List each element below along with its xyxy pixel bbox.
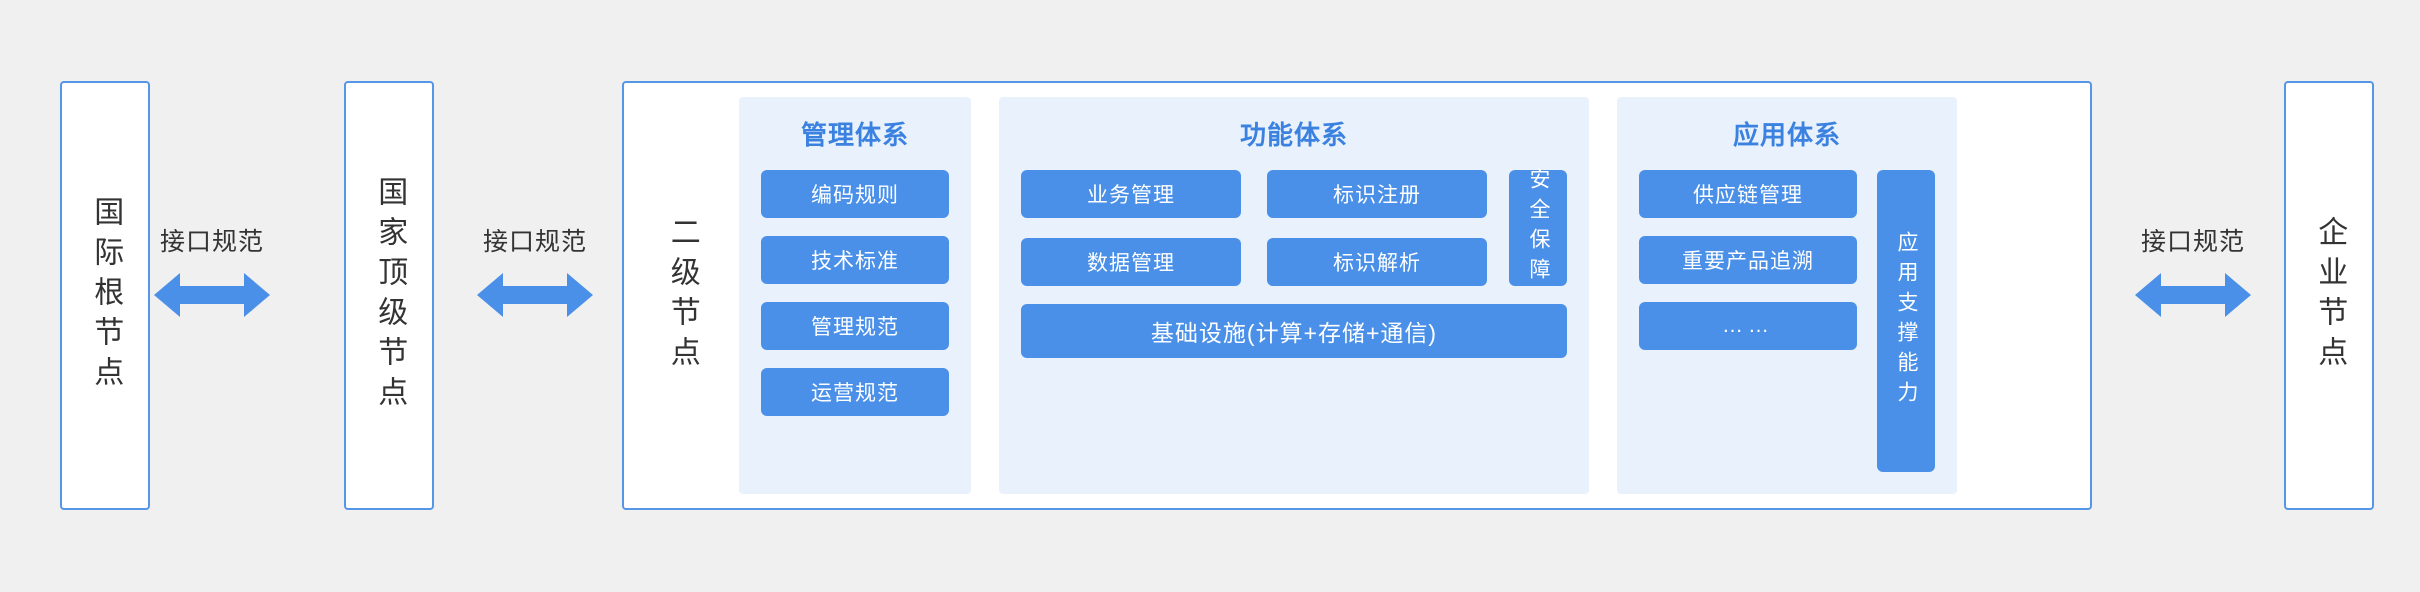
chip-management-specification[interactable]: 管理规范 [761, 302, 949, 350]
management-item-stack: 编码规则 技术标准 管理规范 运营规范 [761, 170, 949, 472]
panel-management-body: 编码规则 技术标准 管理规范 运营规范 [761, 170, 949, 472]
chip-identifier-resolution[interactable]: 标识解析 [1267, 238, 1487, 286]
node-enterprise[interactable]: 企业节点 [2284, 81, 2374, 510]
chip-identifier-registration[interactable]: 标识注册 [1267, 170, 1487, 218]
panel-application-body: 供应链管理 重要产品追溯 …… 应用支撑能力 [1639, 170, 1935, 472]
panel-management-system: 管理体系 编码规则 技术标准 管理规范 运营规范 [739, 97, 971, 494]
node-international-root-label: 国际根节点 [85, 196, 126, 396]
chip-technical-standards[interactable]: 技术标准 [761, 236, 949, 284]
node-national-top-label: 国家顶级节点 [369, 176, 410, 416]
connector-second-to-enterprise: 接口规范 [2113, 215, 2273, 325]
node-enterprise-label: 企业节点 [2309, 216, 2350, 376]
functional-row-1: 业务管理 标识注册 [1021, 170, 1487, 218]
chip-business-management[interactable]: 业务管理 [1021, 170, 1241, 218]
connector-label-2: 接口规范 [483, 222, 587, 258]
panel-application-title: 应用体系 [1639, 115, 1935, 152]
panel-functional-system: 功能体系 业务管理 标识注册 数据管理 标识解析 [999, 97, 1589, 494]
functional-side-column: 安全保障 [1509, 170, 1567, 286]
double-arrow-icon [2135, 272, 2251, 318]
system-panels: 管理体系 编码规则 技术标准 管理规范 运营规范 功能体系 [739, 83, 2090, 508]
panel-management-title: 管理体系 [761, 115, 949, 152]
diagram-canvas: 国际根节点 接口规范 国家顶级节点 接口规范 二级节点 管理体系 编码规 [0, 0, 2420, 592]
chip-application-support-capability[interactable]: 应用支撑能力 [1877, 170, 1935, 472]
functional-top-area: 业务管理 标识注册 数据管理 标识解析 安全保障 [1021, 170, 1567, 286]
chip-more-items[interactable]: …… [1639, 302, 1857, 350]
functional-chip-grid: 业务管理 标识注册 数据管理 标识解析 [1021, 170, 1487, 286]
second-level-label-column: 二级节点 [624, 83, 739, 508]
chip-supply-chain-management[interactable]: 供应链管理 [1639, 170, 1857, 218]
connector-national-to-second: 接口规范 [455, 215, 615, 325]
chip-product-traceability[interactable]: 重要产品追溯 [1639, 236, 1857, 284]
connector-label-3: 接口规范 [2141, 222, 2245, 258]
chip-operation-specification[interactable]: 运营规范 [761, 368, 949, 416]
chip-data-management[interactable]: 数据管理 [1021, 238, 1241, 286]
functional-row-2: 数据管理 标识解析 [1021, 238, 1487, 286]
chip-infrastructure[interactable]: 基础设施(计算+存储+通信) [1021, 304, 1567, 358]
panel-functional-body: 业务管理 标识注册 数据管理 标识解析 安全保障 基础设施(计算+ [1021, 170, 1567, 472]
double-arrow-icon [477, 272, 593, 318]
node-second-level: 二级节点 管理体系 编码规则 技术标准 管理规范 运营规范 功能体系 [622, 81, 2092, 510]
panel-application-system: 应用体系 供应链管理 重要产品追溯 …… 应用支撑能力 [1617, 97, 1957, 494]
chip-security-assurance[interactable]: 安全保障 [1509, 170, 1567, 286]
connector-root-to-national: 接口规范 [132, 215, 292, 325]
connector-label-1: 接口规范 [160, 222, 264, 258]
double-arrow-icon [154, 272, 270, 318]
application-side-column: 应用支撑能力 [1877, 170, 1935, 472]
chip-coding-rules[interactable]: 编码规则 [761, 170, 949, 218]
node-second-level-label: 二级节点 [661, 216, 702, 376]
panel-functional-title: 功能体系 [1021, 115, 1567, 152]
node-national-top[interactable]: 国家顶级节点 [344, 81, 434, 510]
application-chip-grid: 供应链管理 重要产品追溯 …… [1639, 170, 1857, 472]
